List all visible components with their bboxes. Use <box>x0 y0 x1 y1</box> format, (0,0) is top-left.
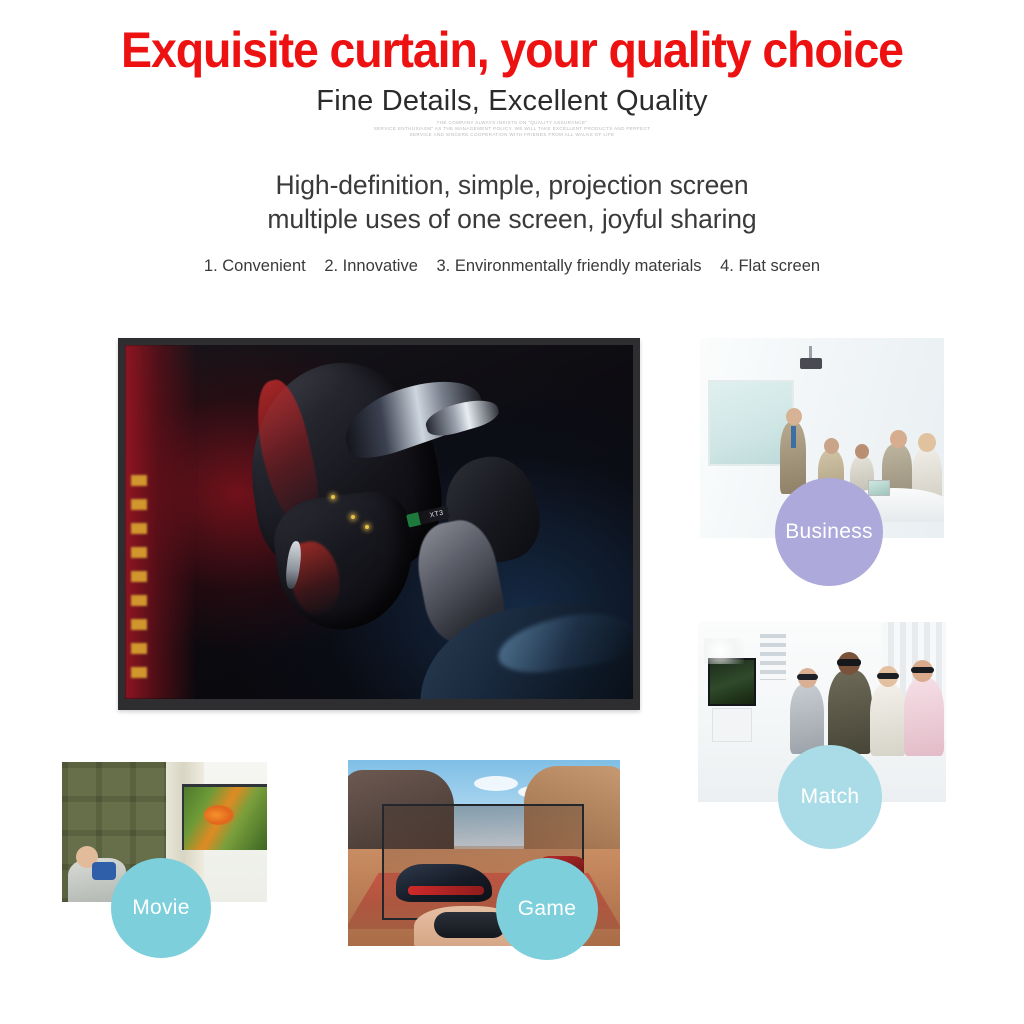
business-presenter-tie <box>791 426 796 448</box>
badge-match-label: Match <box>801 785 860 809</box>
badge-match[interactable]: Match <box>778 745 882 849</box>
pitch-line-2: multiple uses of one screen, joyful shar… <box>0 202 1024 236</box>
badge-business[interactable]: Business <box>775 478 883 586</box>
feature-item-2: 2. Innovative <box>324 257 418 275</box>
feature-item-4: 4. Flat screen <box>720 257 820 275</box>
match-viewer-4-3d-glasses <box>911 667 934 673</box>
game-cloud-1 <box>474 776 518 791</box>
business-attendee-1-head <box>824 438 839 454</box>
badge-movie-label: Movie <box>132 896 190 920</box>
match-viewer-2-3d-glasses <box>837 659 861 666</box>
match-viewer-1-body <box>790 684 824 754</box>
game-controller <box>434 912 506 938</box>
business-attendee-2-head <box>855 444 869 459</box>
match-viewer-4-body <box>904 678 944 756</box>
hero-projection-screen: XT3 <box>118 338 640 710</box>
match-television <box>708 658 756 706</box>
badge-movie[interactable]: Movie <box>111 858 211 958</box>
hero-screen-content: XT3 <box>125 345 633 699</box>
page-headline: Exquisite curtain, your quality choice <box>36 22 988 78</box>
product-pitch: High-definition, simple, projection scre… <box>0 168 1024 236</box>
hero-character: XT3 <box>125 345 633 699</box>
match-viewer-3-body <box>870 684 906 756</box>
helmet-glow-dot-1 <box>331 495 335 499</box>
helmet-glow-dot-3 <box>365 525 369 529</box>
match-viewer-3-3d-glasses <box>877 673 899 679</box>
match-tv-stand <box>712 708 752 742</box>
badge-game-label: Game <box>518 897 576 921</box>
business-laptop <box>868 480 890 496</box>
microcopy-line-3: SERVICE AND SINCERE COOPERATION WITH FRI… <box>0 132 1024 138</box>
page-subheadline: Fine Details, Excellent Quality <box>0 84 1024 118</box>
badge-game[interactable]: Game <box>496 858 598 960</box>
ceiling-projector <box>800 358 822 369</box>
match-window <box>760 634 786 680</box>
company-microcopy: THE COMPANY ALWAYS INSISTS ON "QUALITY A… <box>0 120 1024 139</box>
badge-business-label: Business <box>785 520 873 544</box>
helmet-glow-dot-2 <box>351 515 355 519</box>
match-viewer-2-body <box>828 670 872 754</box>
feature-item-3: 3. Environmentally friendly materials <box>436 257 701 275</box>
match-viewer-1-3d-glasses <box>797 674 818 680</box>
product-marketing-page: Exquisite curtain, your quality choice F… <box>0 0 1024 1024</box>
match-flowers <box>704 638 744 664</box>
feature-item-1: 1. Convenient <box>204 257 306 275</box>
feature-list: 1. Convenient 2. Innovative 3. Environme… <box>0 255 1024 277</box>
movie-viewer-pillow <box>92 862 116 880</box>
game-race-car <box>396 864 492 902</box>
pitch-line-1: High-definition, simple, projection scre… <box>0 168 1024 202</box>
movie-projection-screen <box>182 784 267 850</box>
movie-fish-image <box>204 805 234 825</box>
business-attendee-3-head <box>890 430 907 448</box>
business-attendee-4-head <box>918 433 936 452</box>
business-presenter-head <box>786 408 802 425</box>
game-race-car-stripe <box>408 886 484 895</box>
